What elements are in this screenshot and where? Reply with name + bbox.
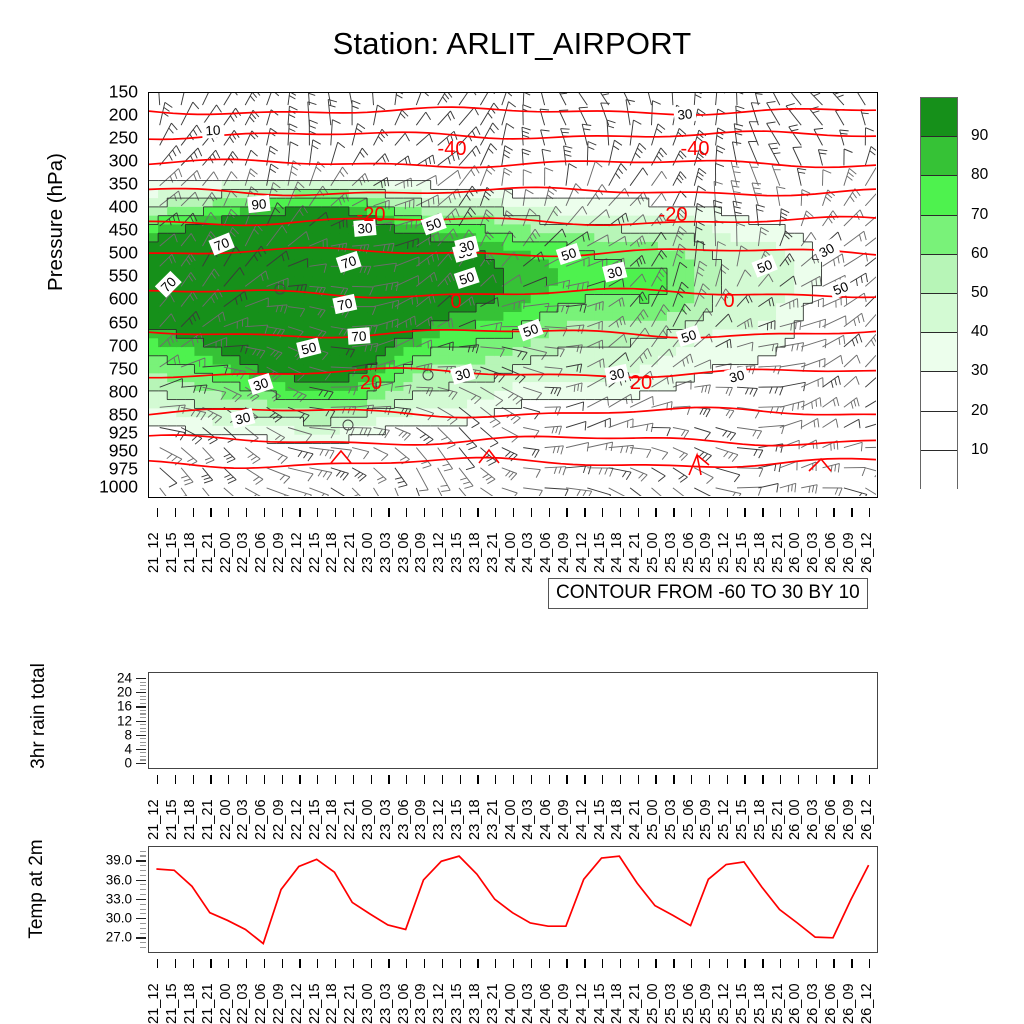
humidity-cell [622,286,632,295]
wind-barb-flag [831,465,832,472]
wind-barb-flag [717,146,725,150]
humidity-cell [467,259,477,268]
humidity-cell [294,268,304,277]
wind-barb-shaft [416,468,428,490]
x-axis-tick [673,959,674,968]
humidity-cell [213,303,223,312]
x-axis-tick [549,508,550,517]
humidity-cell [158,417,168,426]
humidity-cell [185,400,195,409]
humidity-cell [149,251,159,260]
humidity-cell [649,330,659,339]
humidity-cell [158,233,168,242]
humidity-cell [403,312,413,321]
wind-barb-shaft [566,466,591,468]
wind-barb-flag [471,170,475,176]
rh-contour-label: 10 [205,122,221,138]
humidity-cell [703,312,713,321]
humidity-cell [376,233,386,242]
humidity-cell [594,365,604,374]
humidity-cell [213,356,223,365]
humidity-cell [594,382,604,391]
humidity-cell [267,268,277,277]
humidity-cell [685,365,695,374]
humidity-cell [494,189,504,198]
humidity-cell [158,400,168,409]
wind-barb-flag [771,148,778,149]
wind-barb-flag [413,240,414,247]
wind-barb-shaft [224,488,239,496]
wind-barb-flag [165,102,172,107]
rain-tick [136,692,146,693]
wind-barb-flag [777,187,786,189]
humidity-cell [576,295,586,304]
temp-tick-minor [140,928,146,929]
wind-barb-flag [859,419,860,428]
humidity-cell [503,295,513,304]
wind-barb-shaft [716,468,740,475]
humidity-cell [413,373,423,382]
wind-barb-flag [202,475,209,477]
wind-barb-flag [639,473,644,478]
humidity-cell [240,259,250,268]
humidity-cell [313,417,323,426]
humidity-cell [422,189,432,198]
wind-barb-shaft [502,168,504,186]
x-axis-tick [442,775,443,784]
wind-barb-flag [653,101,661,105]
wind-barb-flag [251,169,258,175]
humidity-cell [158,189,168,198]
x-axis-tick-label: 24_06 [538,799,554,840]
humidity-cell [558,268,568,277]
wind-barb-shaft [630,448,651,450]
wind-barb-flag [844,149,852,153]
rain-tick-minor [140,703,146,704]
humidity-cell [631,207,641,216]
pressure-tick-label: 200 [109,105,138,126]
humidity-cell [712,356,722,365]
humidity-cell [149,198,159,207]
humidity-cell [303,417,313,426]
humidity-cell [194,251,204,260]
colorbar-tick-label: 40 [971,323,988,341]
humidity-cell [612,391,622,400]
rain-tick-minor [140,745,146,746]
wind-barb-flag [402,433,407,438]
wind-barb-flag [358,124,365,129]
humidity-cell [612,347,622,356]
humidity-cell [513,365,523,374]
humidity-cell [358,400,368,409]
humidity-cell [176,242,186,251]
wind-barb-shaft [630,168,643,186]
humidity-cell [467,356,477,365]
humidity-cell [231,207,241,216]
humidity-cell [303,189,313,198]
x-axis-tick [388,775,389,784]
wind-barb-flag [509,453,514,458]
x-axis-tick-label: 24_12 [574,532,590,573]
humidity-cell [549,198,559,207]
humidity-cell [594,242,604,251]
colorbar-tick-label: 20 [971,402,988,420]
temp-line [156,856,868,943]
humidity-cell [522,391,532,400]
humidity-cell [285,181,295,190]
wind-barb-flag [522,149,531,152]
humidity-cell [313,295,323,304]
humidity-cell [149,347,159,356]
humidity-cell [413,259,423,268]
humidity-cell [158,321,168,330]
humidity-cell [540,312,550,321]
humidity-cell [149,268,159,277]
humidity-cell [331,233,341,242]
wind-barb-shaft [438,468,451,491]
humidity-cell [431,417,441,426]
humidity-cell [267,224,277,233]
x-axis-tick-label: 26_06 [823,983,839,1024]
wind-barb-flag [250,96,254,101]
humidity-cell [803,268,813,277]
humidity-cell [422,207,432,216]
humidity-cell [194,207,204,216]
humidity-cell [476,382,486,391]
humidity-cell [385,391,395,400]
wind-barb-flag [814,420,815,427]
x-axis-tick-label: 21_15 [164,799,180,840]
x-axis-tick [299,959,300,968]
humidity-cell [703,207,713,216]
wind-barb-flag [329,105,336,107]
humidity-cell [149,417,159,426]
humidity-cell [313,373,323,382]
wind-barb-flag [460,478,467,480]
wind-barb-flag [813,442,814,449]
humidity-cell [494,233,504,242]
humidity-cell [258,233,268,242]
wind-barb-flag [842,254,844,263]
wind-barb-shaft [160,428,185,433]
x-axis-tick-label: 23_03 [378,532,394,573]
x-axis-tick-label: 23_03 [378,799,394,840]
wind-barb-flag [588,147,595,150]
wind-barb-shaft [865,421,876,427]
wind-barb-flag [622,471,626,477]
pressure-axis-labels: 1502002503003504004505005506006507007508… [92,92,144,498]
wind-barb-shaft [374,105,378,125]
humidity-cell [631,268,641,277]
x-axis-tick [353,959,354,968]
wind-barb-shaft [823,419,837,428]
humidity-cell [213,347,223,356]
wind-barb-flag [861,442,862,451]
wind-barb-shaft [865,292,876,306]
humidity-cell [449,312,459,321]
wind-barb-shaft [731,161,737,186]
x-axis-tick [655,775,656,784]
humidity-cell [594,251,604,260]
humidity-cell [249,295,259,304]
x-axis-tick-label: 24_21 [627,532,643,573]
humidity-cell [403,268,413,277]
wind-barb-flag [695,95,701,98]
humidity-cell [322,295,332,304]
wind-barb-flag [236,108,241,116]
x-axis-tick [620,508,621,517]
humidity-cell [603,347,613,356]
humidity-cell [367,259,377,268]
humidity-cell [522,312,532,321]
humidity-cell [731,312,741,321]
x-axis-tick [727,508,728,517]
wind-barb-flag [818,150,827,151]
x-axis-tick [495,959,496,968]
wind-barb-shaft [160,123,172,145]
wind-barb-flag [677,178,682,183]
wind-barb-flag [302,494,306,497]
wind-barb-flag [788,485,789,492]
wind-barb-shaft [769,144,780,165]
wind-barb-flag [862,313,864,322]
humidity-cell [758,312,768,321]
x-axis-tick-label: 25_06 [681,532,697,573]
wind-barb-shaft [372,93,374,105]
wind-barb-flag [252,93,257,98]
humidity-cell [413,408,423,417]
wind-barb-flag [770,387,773,394]
wind-barb-flag [289,106,297,110]
wind-barb-flag [564,489,568,496]
colorbar-tick-label: 70 [971,206,988,224]
x-axis-tick-label: 26_12 [859,532,875,573]
wind-barb-flag [853,192,857,198]
wind-barb-flag [490,443,498,447]
wind-barb-shaft [630,488,643,496]
wind-barb-shaft [587,442,612,448]
wind-barb-flag [352,106,359,109]
wind-barb-flag [251,114,256,119]
wind-barb-flag [837,397,839,406]
humidity-cell [340,356,350,365]
x-axis-tick [869,959,870,968]
isotherm-label: 0 [723,290,734,312]
humidity-cell [340,391,350,400]
humidity-cell [485,216,495,225]
humidity-cell [367,312,377,321]
rh-contour-label-group: 30 [673,105,697,123]
wind-barb-flag [679,175,684,180]
wind-barb-shaft [716,488,741,494]
humidity-cell [403,286,413,295]
humidity-cell [703,233,713,242]
wind-barb-flag [781,213,787,216]
humidity-cell [240,207,250,216]
wind-barb-shaft [181,148,198,166]
humidity-cell [403,417,413,426]
rh-contour-label-group: 70 [347,327,370,344]
temp-tick-minor [140,904,146,905]
wind-barb-shaft [374,129,382,145]
humidity-cell [467,198,477,207]
wind-barb-flag [847,176,853,180]
humidity-cell [703,224,713,233]
wind-barb-flag [559,467,561,474]
humidity-cell [749,321,759,330]
x-axis-tick [584,508,585,517]
wind-barb-shaft [630,468,647,475]
wind-barb-flag [289,124,297,128]
wind-barb-flag [491,144,497,151]
wind-barb-flag [735,129,742,131]
humidity-cell [522,295,532,304]
humidity-cell [676,233,686,242]
wind-barb-flag [755,193,762,194]
humidity-cell [167,259,177,268]
x-axis-tick [246,508,247,517]
wind-barb-flag [695,93,701,94]
humidity-cell [485,242,495,251]
humidity-cell [749,303,759,312]
rain-tick-label: 16 [117,699,132,714]
wind-barb-flag [406,222,407,229]
wind-barb-flag [411,178,412,187]
humidity-cell [440,259,450,268]
humidity-cell [458,356,468,365]
humidity-cell [576,277,586,286]
wind-barb-shaft [566,164,569,186]
humidity-cell [467,338,477,347]
wind-barb-flag [726,387,729,394]
wind-barb-flag [181,476,188,478]
humidity-cell [494,295,504,304]
isotherm-line [149,131,876,139]
humidity-cell [494,207,504,216]
wind-barb-flag [504,150,510,154]
x-axis-tick [655,959,656,968]
humidity-cell [267,277,277,286]
x-axis-tick [833,508,834,517]
humidity-cell [585,207,595,216]
wind-barb-flag [681,430,685,436]
humidity-cell [513,356,523,365]
humidity-cell [167,224,177,233]
humidity-cell [622,224,632,233]
humidity-cell [231,277,241,286]
wind-barb-flag [466,442,473,445]
humidity-cell [467,207,477,216]
wind-barb-flag [569,164,577,168]
wind-barb-flag [343,167,348,174]
humidity-cell [149,382,159,391]
wind-barb-flag [708,385,710,394]
humidity-cell [540,277,550,286]
wind-barb-flag [706,409,710,417]
humidity-cell [222,417,232,426]
wind-barb-shaft [288,106,289,125]
wind-barb-flag [360,152,364,158]
humidity-cell [703,321,713,330]
humidity-cell [503,338,513,347]
humidity-cell [167,400,177,409]
humidity-cell [658,259,668,268]
humidity-cell [322,251,332,260]
wind-barb-shaft [619,93,630,105]
wind-barb-flag [841,355,843,364]
wind-barb-flag [816,440,817,449]
x-axis-tick [175,959,176,968]
humidity-cell [158,347,168,356]
humidity-cell [758,303,768,312]
wind-barb-shaft [288,93,290,105]
wind-barb-flag [398,481,405,483]
wind-barb-flag [253,477,259,481]
wind-barb-flag [812,402,813,409]
wind-barb-flag [793,404,794,411]
wind-barb-flag [834,442,835,449]
wind-barb-flag [777,484,778,493]
wind-barb-flag [820,398,821,407]
wind-barb-shaft [309,140,312,166]
humidity-cell [794,233,804,242]
wind-barb-shaft [609,488,627,496]
humidity-cell [649,224,659,233]
humidity-cell [767,312,777,321]
x-axis-tick [833,959,834,968]
humidity-cell [785,321,795,330]
wind-barb-flag [753,188,760,189]
wind-barb-shaft [522,127,523,145]
x-axis-tick-label: 24_12 [574,983,590,1024]
x-axis-tick-label: 24_06 [538,532,554,573]
x-axis-tick-label: 23_15 [449,799,465,840]
x-axis-tick-label: 22_00 [218,983,234,1024]
wind-barb-flag [538,490,542,496]
wind-barb-flag [281,457,288,463]
humidity-cell [313,382,323,391]
humidity-cell [258,216,268,225]
wind-barb-flag [816,400,817,407]
x-axis-tick-label: 25_06 [681,983,697,1024]
x-axis-tick [620,959,621,968]
x-axis-tick-label: 23_12 [431,983,447,1024]
x-axis-tick-label: 22_09 [271,799,287,840]
humidity-cell [285,391,295,400]
x-axis-tick [460,508,461,517]
wind-barb-flag [385,363,386,370]
wind-barb-flag [523,170,531,173]
humidity-cell [167,216,177,225]
humidity-cell [440,303,450,312]
temp-tick-label: 33.0 [106,891,132,906]
humidity-cell [794,286,804,295]
humidity-cell [331,338,341,347]
wind-barb-shaft [438,111,451,125]
humidity-cell [176,321,186,330]
wind-barb-flag [733,201,742,203]
humidity-cell [313,207,323,216]
wind-barb-shaft [865,147,871,166]
wind-barb-flag [309,126,316,129]
x-axis-tick [566,959,567,968]
wind-barb-flag [866,273,868,282]
wind-barb-flag [871,340,874,346]
humidity-cell [694,347,704,356]
humidity-cell [194,347,204,356]
humidity-cell [513,242,523,251]
wind-barb-flag [662,193,667,201]
